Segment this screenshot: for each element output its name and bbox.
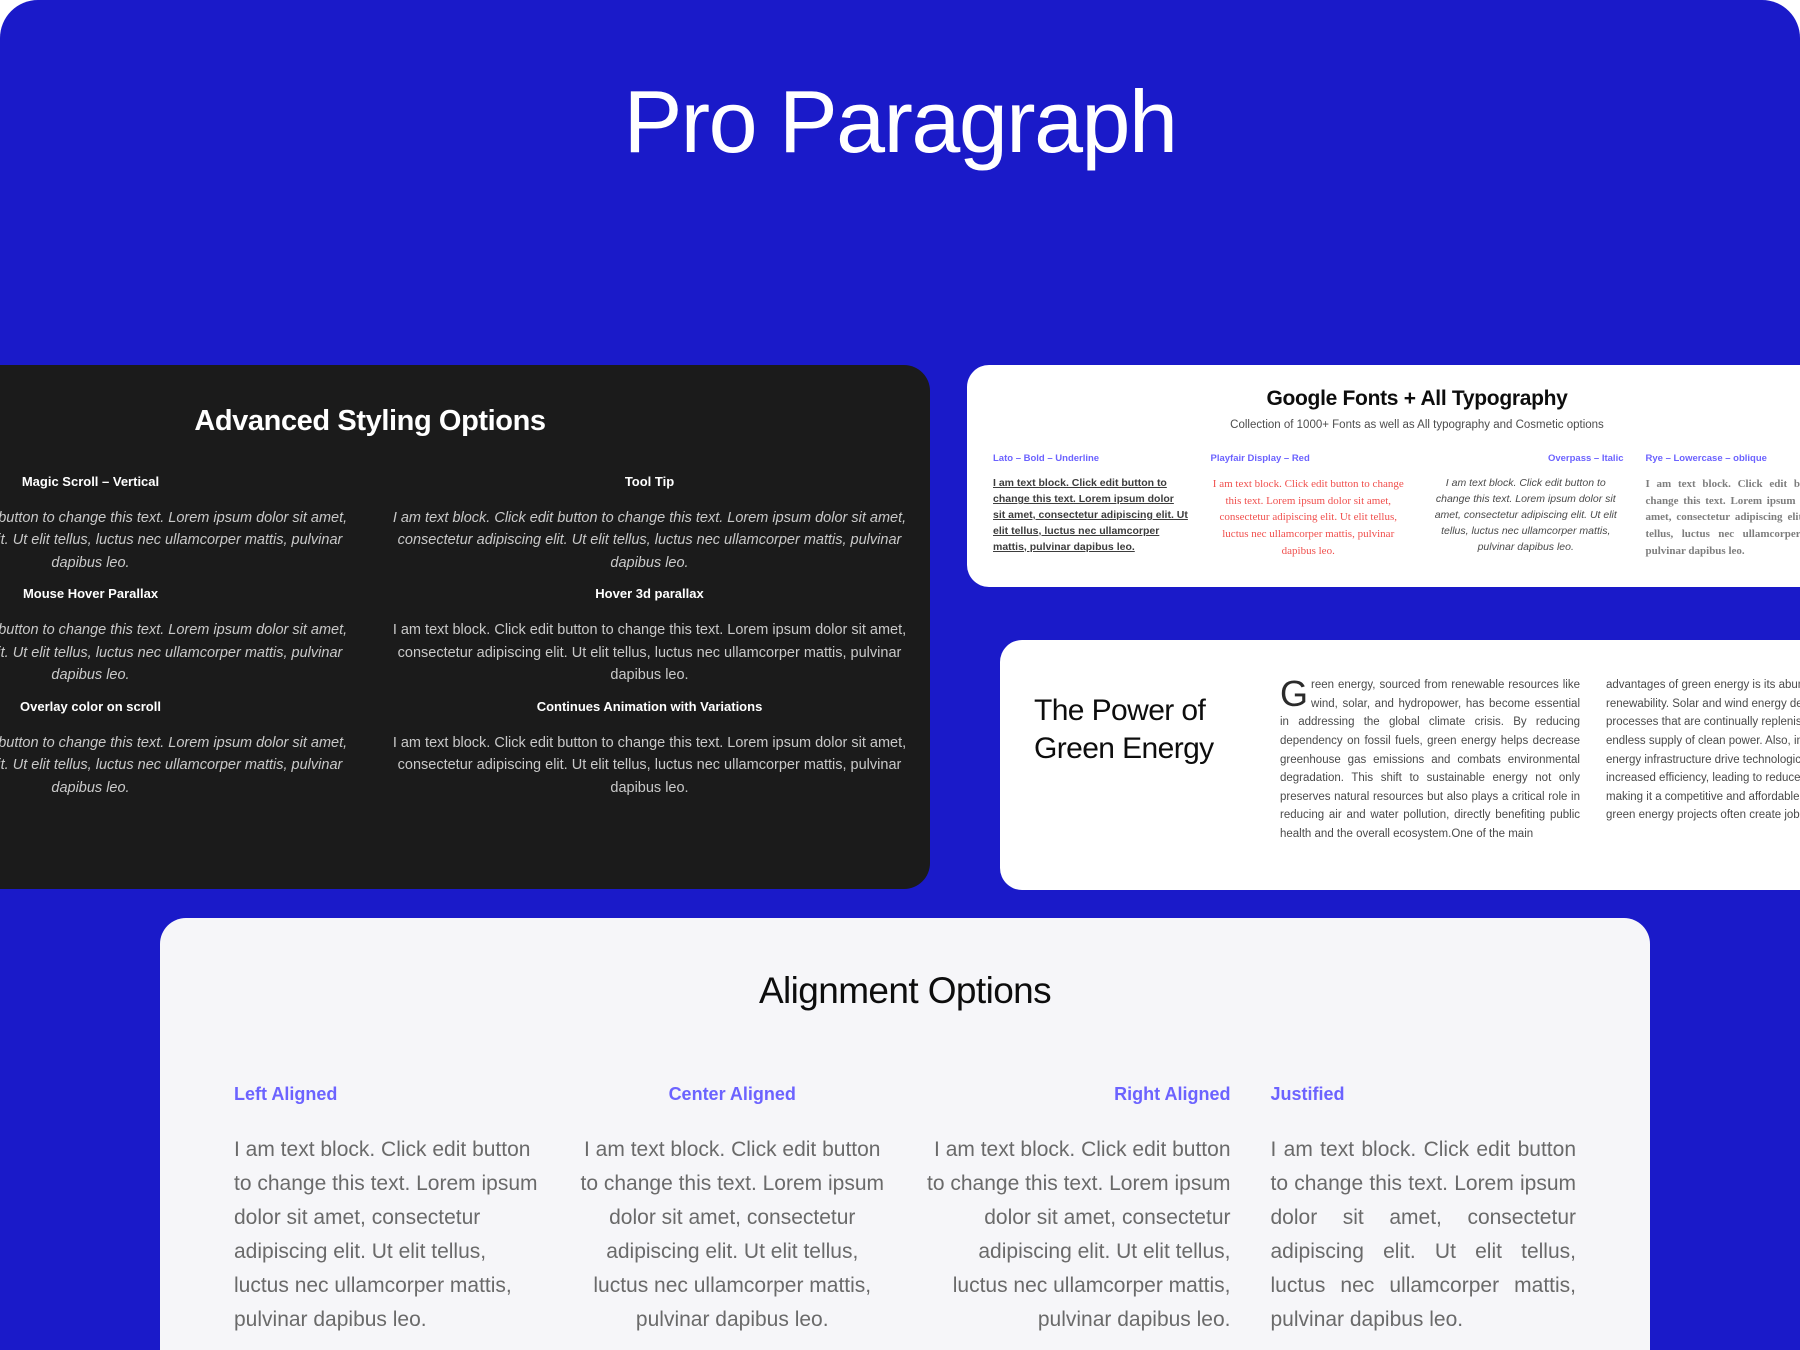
green-energy-card: The Power of Green Energy Green energy, …: [1000, 640, 1800, 890]
alignment-options-title: Alignment Options: [160, 970, 1650, 1012]
alignment-options-card: Alignment Options Left Aligned I am text…: [160, 918, 1650, 1350]
styling-cell-body: I am text block. Click edit button to ch…: [389, 619, 910, 686]
styling-cell-label: Mouse Hover Parallax: [0, 586, 351, 601]
green-energy-column-two: advantages of green energy is its abunda…: [1606, 676, 1800, 890]
green-energy-heading-block: The Power of Green Energy: [1000, 676, 1280, 890]
alignment-column-label: Justified: [1271, 1084, 1577, 1105]
advanced-styling-card: Advanced Styling Options Magic Scroll – …: [0, 365, 930, 889]
alignment-options-grid: Left Aligned I am text block. Click edit…: [160, 1084, 1650, 1337]
green-energy-column-one: Green energy, sourced from renewable res…: [1280, 676, 1580, 890]
green-energy-columns: Green energy, sourced from renewable res…: [1280, 676, 1800, 890]
font-column-body: I am text block. Click edit button to ch…: [1428, 476, 1624, 556]
styling-cell-continues-animation: Continues Animation with Variations I am…: [383, 699, 916, 799]
styling-cell-label: Hover 3d parallax: [389, 586, 910, 601]
hero-banner: Pro Paragraph: [0, 0, 1800, 365]
font-column-body: I am text block. Click edit button to ch…: [1646, 476, 1800, 560]
styling-cell-label: Magic Scroll – Vertical: [0, 474, 351, 489]
alignment-column-label: Center Aligned: [580, 1084, 886, 1105]
styling-cell-hover-3d-parallax: Hover 3d parallax I am text block. Click…: [383, 586, 916, 686]
styling-cell-overlay-color-on-scroll: Overlay color on scroll I am text block.…: [0, 699, 357, 799]
font-column-overpass: Overpass – Italic I am text block. Click…: [1428, 453, 1624, 560]
font-column-playfair-display: Playfair Display – Red I am text block. …: [1211, 453, 1407, 560]
advanced-styling-grid: Magic Scroll – Vertical I am text block.…: [0, 474, 930, 799]
alignment-column-justified: Justified I am text block. Click edit bu…: [1271, 1084, 1577, 1337]
alignment-column-label: Right Aligned: [925, 1084, 1231, 1105]
google-fonts-card: Google Fonts + All Typography Collection…: [967, 365, 1800, 587]
styling-cell-body: I am text block. Click edit button to ch…: [389, 732, 910, 799]
styling-cell-body: I am text block. Click edit button to ch…: [389, 507, 910, 574]
font-column-rye: Rye – Lowercase – oblique I am text bloc…: [1646, 453, 1800, 560]
alignment-column-right: Right Aligned I am text block. Click edi…: [925, 1084, 1231, 1337]
font-column-body: I am text block. Click edit button to ch…: [993, 476, 1189, 556]
styling-cell-tool-tip: Tool Tip I am text block. Click edit but…: [383, 474, 916, 574]
styling-cell-label: Overlay color on scroll: [0, 699, 351, 714]
google-fonts-subtitle: Collection of 1000+ Fonts as well as All…: [967, 419, 1800, 431]
styling-cell-magic-scroll: Magic Scroll – Vertical I am text block.…: [0, 474, 357, 574]
alignment-column-body: I am text block. Click edit button to ch…: [925, 1133, 1231, 1337]
alignment-column-left: Left Aligned I am text block. Click edit…: [234, 1084, 540, 1337]
page-title: Pro Paragraph: [624, 78, 1177, 166]
page-root: Pro Paragraph Advanced Styling Options M…: [0, 0, 1800, 1350]
styling-cell-label: Tool Tip: [389, 474, 910, 489]
styling-cell-label: Continues Animation with Variations: [389, 699, 910, 714]
font-column-label: Overpass – Italic: [1428, 453, 1624, 464]
styling-cell-body: I am text block. Click edit button to ch…: [0, 619, 351, 686]
font-column-lato: Lato – Bold – Underline I am text block.…: [993, 453, 1189, 560]
alignment-column-label: Left Aligned: [234, 1084, 540, 1105]
alignment-column-body: I am text block. Click edit button to ch…: [234, 1133, 540, 1337]
alignment-column-body: I am text block. Click edit button to ch…: [1271, 1133, 1577, 1337]
font-column-body: I am text block. Click edit button to ch…: [1211, 476, 1407, 560]
google-fonts-grid: Lato – Bold – Underline I am text block.…: [967, 453, 1800, 560]
font-column-label: Playfair Display – Red: [1211, 453, 1407, 464]
styling-cell-body: I am text block. Click edit button to ch…: [0, 732, 351, 799]
styling-cell-body: I am text block. Click edit button to ch…: [0, 507, 351, 574]
font-column-label: Lato – Bold – Underline: [993, 453, 1189, 464]
green-energy-title: The Power of Green Energy: [1034, 692, 1280, 768]
google-fonts-title: Google Fonts + All Typography: [967, 387, 1800, 411]
font-column-label: Rye – Lowercase – oblique: [1646, 453, 1800, 464]
alignment-column-body: I am text block. Click edit button to ch…: [580, 1133, 886, 1337]
advanced-styling-title: Advanced Styling Options: [0, 405, 930, 438]
alignment-column-center: Center Aligned I am text block. Click ed…: [580, 1084, 886, 1337]
styling-cell-mouse-hover-parallax: Mouse Hover Parallax I am text block. Cl…: [0, 586, 357, 686]
